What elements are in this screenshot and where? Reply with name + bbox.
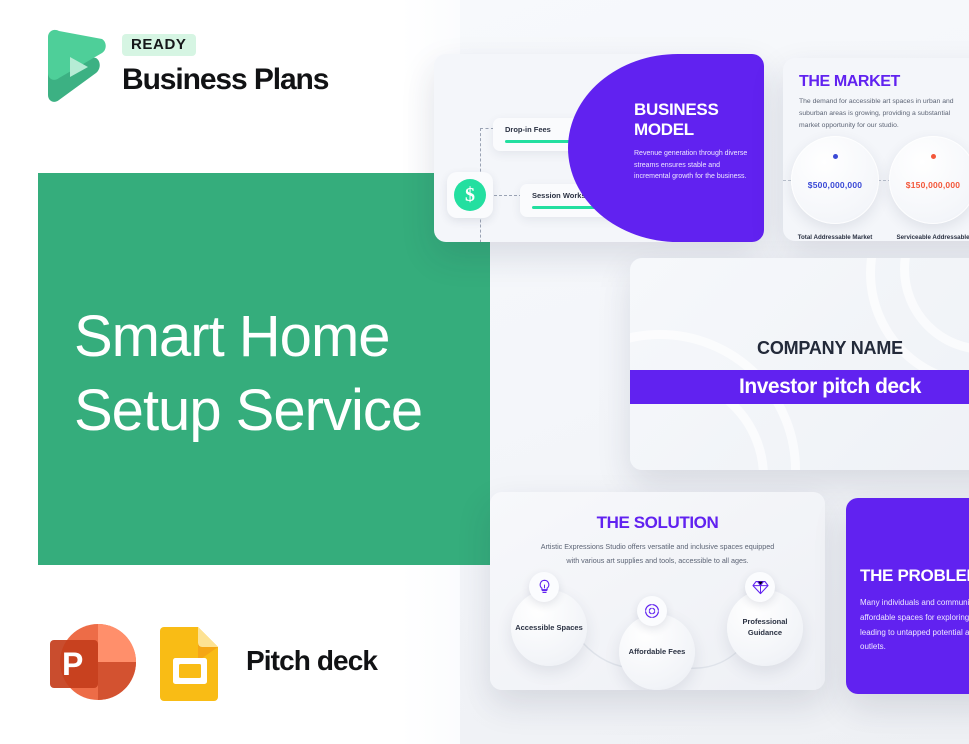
play-triangle-logo-icon — [40, 27, 110, 103]
slide-the-solution[interactable]: THE SOLUTION Artistic Expressions Studio… — [490, 492, 825, 690]
metric-caption: Serviceable Addressable Market (SAM) — [889, 233, 969, 241]
lightbulb-icon — [529, 572, 559, 602]
slide-the-market[interactable]: THE MARKET The demand for accessible art… — [783, 58, 969, 241]
solution-node-label: Affordable Fees — [629, 647, 686, 658]
hero-title-line-1: Smart Home — [74, 300, 494, 374]
slide-the-problem[interactable]: THE PROBLEM Many individuals and communi… — [846, 498, 969, 694]
hero-title-line-2: Setup Service — [74, 374, 494, 448]
target-circle-icon — [637, 596, 667, 626]
market-metric: $150,000,000 Serviceable Addressable Mar… — [889, 136, 969, 241]
format-label: Pitch deck — [246, 645, 377, 677]
brand-logo: READY Business Plans — [40, 27, 328, 103]
company-name-heading: COMPANY NAME — [630, 338, 969, 359]
diamond-icon — [745, 572, 775, 602]
microsoft-powerpoint-icon: P — [44, 615, 136, 707]
investor-pitch-deck-bar: Investor pitch deck — [630, 370, 969, 404]
metric-dot — [833, 154, 838, 159]
business-model-title-line-2: MODEL — [634, 120, 694, 139]
revenue-stream-label: Drop-in Fees — [505, 125, 578, 134]
solution-node[interactable]: Accessible Spaces — [511, 590, 587, 666]
solution-node-label: Accessible Spaces — [515, 623, 583, 634]
revenue-stream-bar — [505, 140, 578, 143]
google-slides-icon — [158, 625, 222, 701]
slide-company-name[interactable]: COMPANY NAME Investor pitch deck — [630, 258, 969, 470]
dollar-sign-icon: $ — [454, 179, 486, 211]
format-row: P Pitch deck — [44, 615, 377, 707]
market-metrics: $500,000,000 Total Addressable Market (T… — [791, 136, 969, 241]
decorative-rings — [630, 258, 969, 470]
solution-title: THE SOLUTION — [490, 513, 825, 533]
metric-caption: Total Addressable Market (TAM) — [791, 233, 879, 241]
solution-node[interactable]: Professional Guidance — [727, 590, 803, 666]
solution-nodes: Accessible Spaces Affordable Fees Profes… — [506, 580, 809, 685]
svg-text:P: P — [62, 646, 83, 682]
market-title: THE MARKET — [799, 73, 900, 91]
metric-value: $150,000,000 — [906, 180, 960, 190]
problem-title: THE PROBLEM — [860, 566, 969, 586]
investor-pitch-deck-label: Investor pitch deck — [739, 375, 921, 399]
business-model-title: BUSINESS MODEL — [634, 100, 750, 139]
hero-title: Smart Home Setup Service — [74, 300, 494, 448]
business-model-description: Revenue generation through diverse strea… — [634, 148, 750, 183]
solution-node-label: Professional Guidance — [727, 617, 803, 639]
market-description: The demand for accessible art spaces in … — [799, 96, 959, 132]
brand-name: Business Plans — [122, 63, 328, 96]
slide-business-model[interactable]: $ Drop-in Fees Session Workshops Commiss… — [434, 54, 764, 242]
ready-badge: READY — [122, 34, 196, 56]
solution-description: Artistic Expressions Studio offers versa… — [540, 540, 775, 567]
problem-description: Many individuals and communities lack ac… — [860, 596, 969, 655]
market-metric: $500,000,000 Total Addressable Market (T… — [791, 136, 879, 241]
solution-node[interactable]: Affordable Fees — [619, 614, 695, 690]
metric-value: $500,000,000 — [808, 180, 862, 190]
business-model-icon-card: $ — [447, 172, 493, 218]
connector-line-top — [480, 128, 494, 129]
metric-dot — [931, 154, 936, 159]
business-model-title-line-1: BUSINESS — [634, 100, 719, 119]
connector-line-mid — [494, 195, 522, 196]
